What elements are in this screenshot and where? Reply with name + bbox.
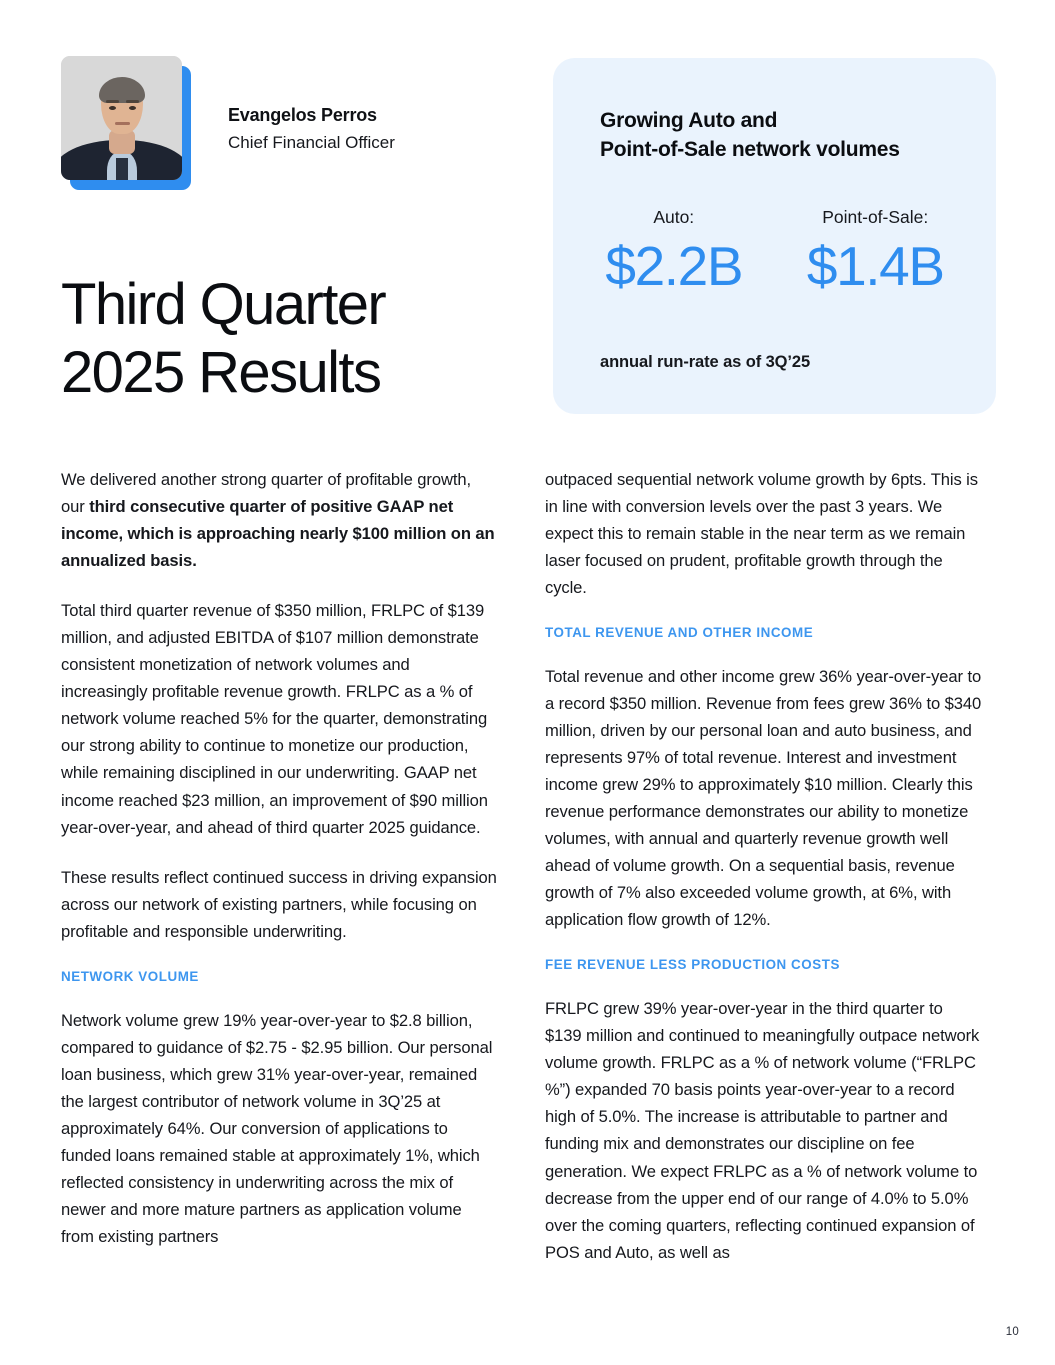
page-header: Evangelos Perros Chief Financial Officer…	[0, 0, 1055, 440]
executive-bio: Evangelos Perros Chief Financial Officer	[61, 56, 395, 190]
section-heading-total-revenue: TOTAL REVENUE AND OTHER INCOME	[545, 624, 982, 643]
right-column: outpaced sequential network volume growt…	[545, 466, 982, 1266]
paragraph-network-volume-continued: outpaced sequential network volume growt…	[545, 466, 982, 601]
paragraph-results-reflection: These results reflect continued success …	[61, 864, 498, 945]
page-number: 10	[1006, 1326, 1019, 1338]
stat-item-point-of-sale: Point-of-Sale: $1.4B	[775, 206, 977, 296]
avatar	[61, 56, 182, 180]
stat-label: Point-of-Sale:	[775, 206, 977, 229]
section-heading-network-volume: NETWORK VOLUME	[61, 968, 498, 987]
paragraph-financial-highlights: Total third quarter revenue of $350 mill…	[61, 597, 498, 840]
stat-label: Auto:	[573, 206, 775, 229]
left-column: We delivered another strong quarter of p…	[61, 466, 498, 1266]
callout-footnote: annual run-rate as of 3Q’25	[600, 353, 810, 372]
portrait-frame	[61, 56, 191, 190]
paragraph-intro-emphasis: third consecutive quarter of positive GA…	[61, 497, 495, 570]
executive-bio-text: Evangelos Perros Chief Financial Officer	[228, 56, 395, 156]
stat-item-auto: Auto: $2.2B	[573, 206, 775, 296]
stat-value: $2.2B	[573, 236, 775, 297]
callout-title: Growing Auto and Point-of-Sale network v…	[600, 107, 900, 165]
stat-group: Auto: $2.2B Point-of-Sale: $1.4B	[573, 206, 976, 296]
executive-name: Evangelos Perros	[228, 104, 395, 127]
paragraph-total-revenue: Total revenue and other income grew 36% …	[545, 663, 982, 933]
body-columns: We delivered another strong quarter of p…	[0, 466, 1055, 1266]
paragraph-frlpc: FRLPC grew 39% year-over-year in the thi…	[545, 995, 982, 1265]
paragraph-intro: We delivered another strong quarter of p…	[61, 466, 498, 574]
stat-value: $1.4B	[775, 236, 977, 297]
section-heading-fee-revenue: FEE REVENUE LESS PRODUCTION COSTS	[545, 956, 982, 975]
stat-callout-card: Growing Auto and Point-of-Sale network v…	[553, 58, 996, 414]
page-title: Third Quarter 2025 Results	[61, 271, 385, 407]
paragraph-network-volume: Network volume grew 19% year-over-year t…	[61, 1007, 498, 1250]
executive-role: Chief Financial Officer	[228, 130, 395, 156]
